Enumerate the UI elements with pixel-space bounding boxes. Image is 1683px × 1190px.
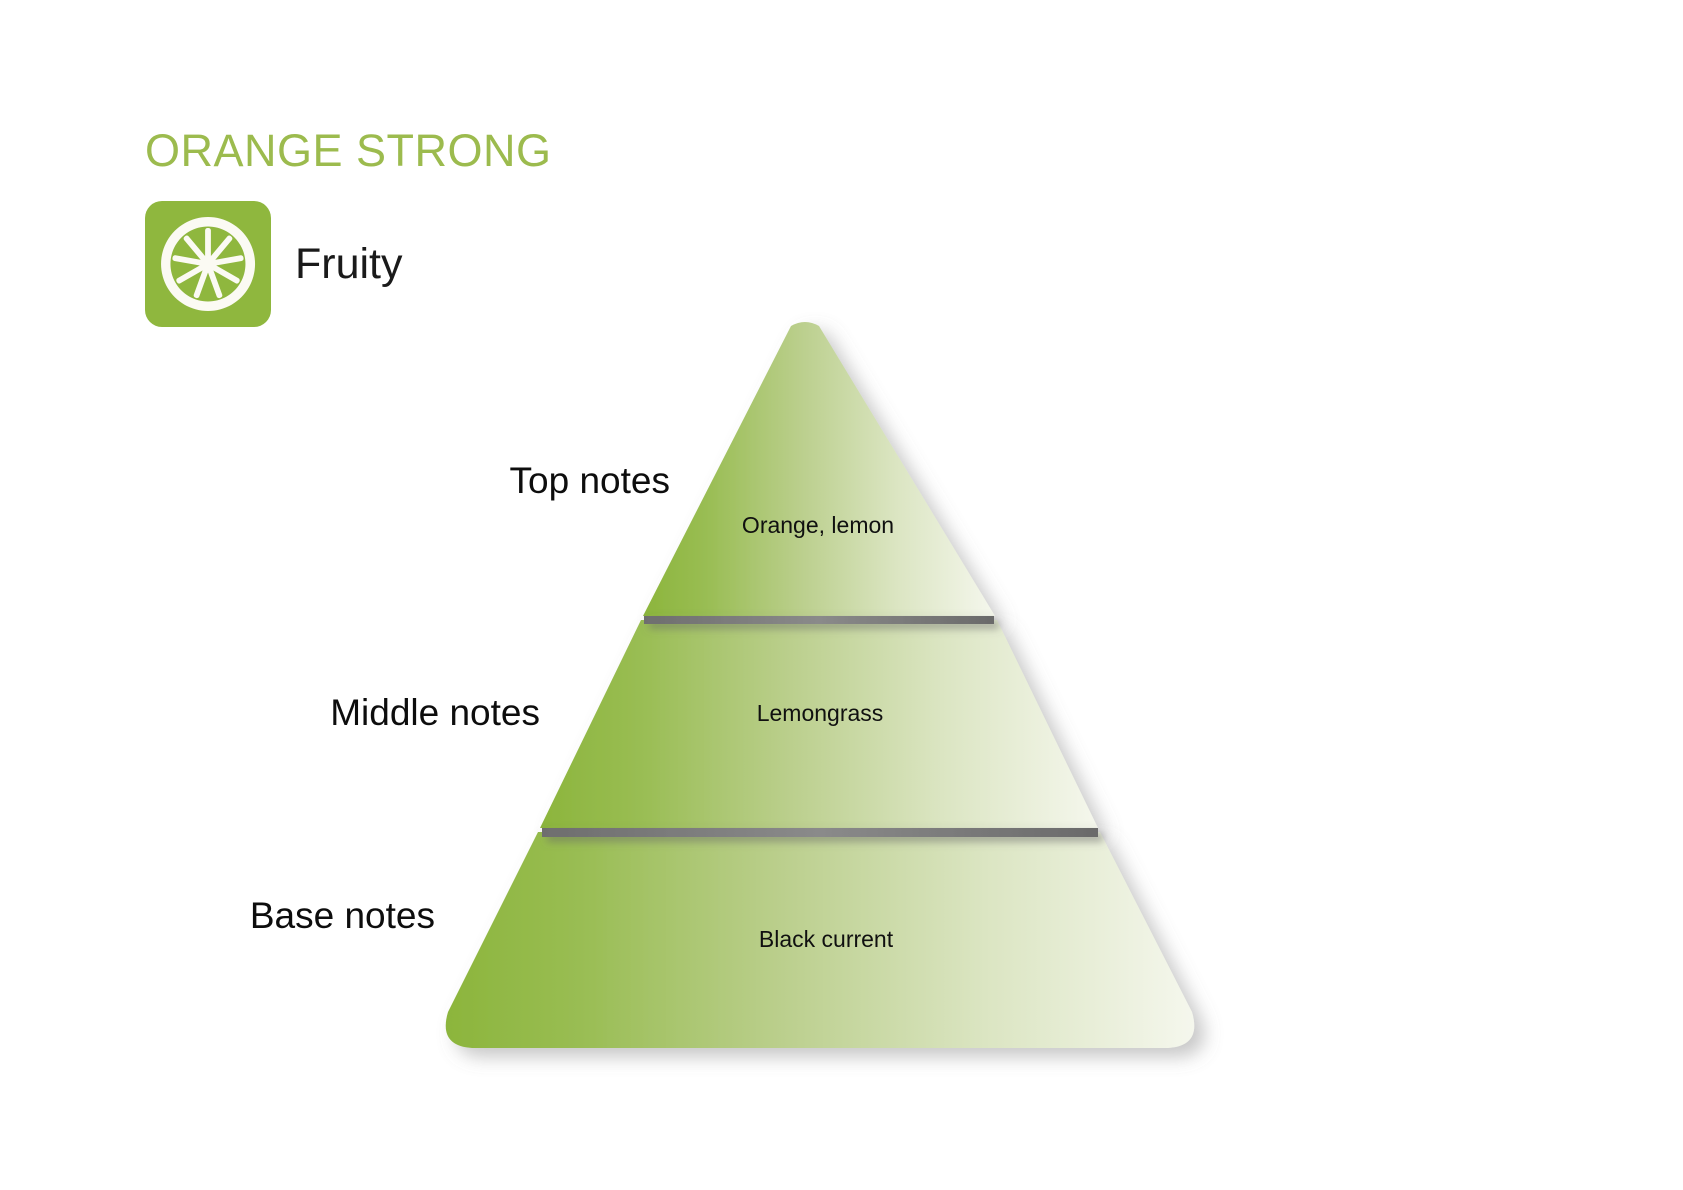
- tier-caption-middle: Lemongrass: [757, 700, 884, 727]
- tier-caption-base: Black current: [759, 926, 893, 953]
- header-block: ORANGE STRONG: [145, 128, 845, 173]
- page-title: ORANGE STRONG: [145, 128, 845, 173]
- tier-label-top-notes: Top notes: [510, 460, 670, 502]
- tier-caption-top: Orange, lemon: [742, 512, 894, 539]
- pyramid-tier-top: [643, 322, 995, 616]
- fragrance-pyramid: Orange, lemon Lemongrass Black current: [430, 320, 1220, 1080]
- fragrance-family-label: Fruity: [295, 243, 403, 286]
- fragrance-family-row: Fruity: [145, 201, 403, 327]
- tier-label-base-notes: Base notes: [250, 895, 435, 937]
- citrus-slice-icon: [145, 201, 271, 327]
- pyramid-divider-2: [542, 828, 1098, 837]
- pyramid-divider-1: [644, 616, 994, 624]
- tier-label-middle-notes: Middle notes: [330, 692, 540, 734]
